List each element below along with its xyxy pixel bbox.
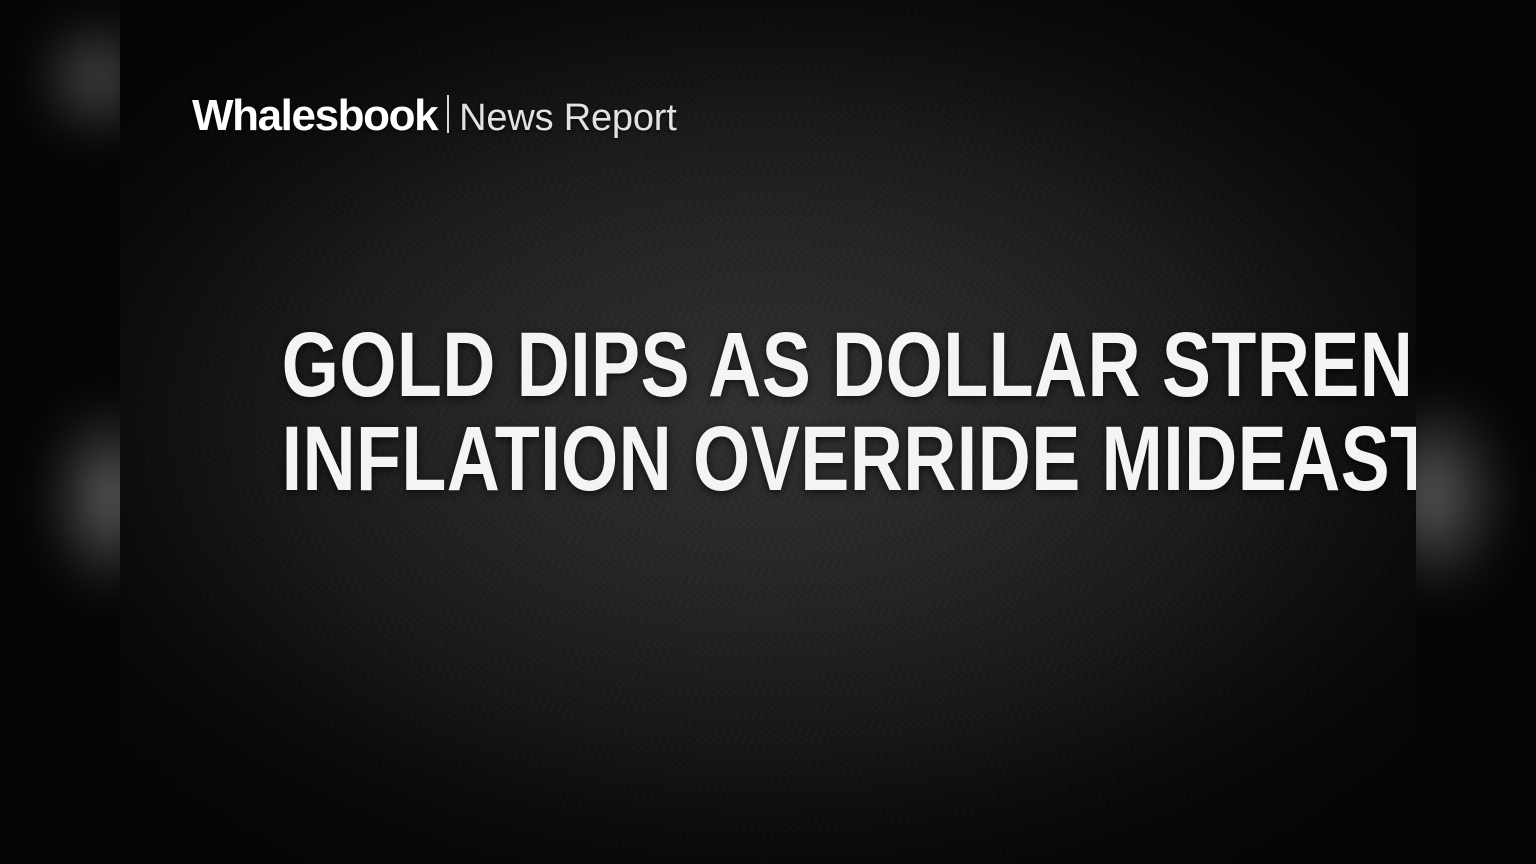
- headline-line-2: INFLATION OVERRIDE MIDEAST TENSIONS: [282, 412, 1255, 506]
- news-card-panel: Whalesbook News Report GOLD DIPS AS DOLL…: [120, 0, 1416, 864]
- brand-subtitle: News Report: [459, 99, 676, 137]
- headline-line-1: GOLD DIPS AS DOLLAR STRENGTH,: [282, 318, 1255, 412]
- news-card-stage: Whalesbook News Report GOLD DIPS AS DOLL…: [0, 0, 1536, 864]
- brand-lockup: Whalesbook News Report: [192, 92, 677, 138]
- headline: GOLD DIPS AS DOLLAR STRENGTH, INFLATION …: [120, 318, 1416, 506]
- brand-name: Whalesbook: [192, 94, 437, 138]
- brand-divider-icon: [447, 95, 449, 133]
